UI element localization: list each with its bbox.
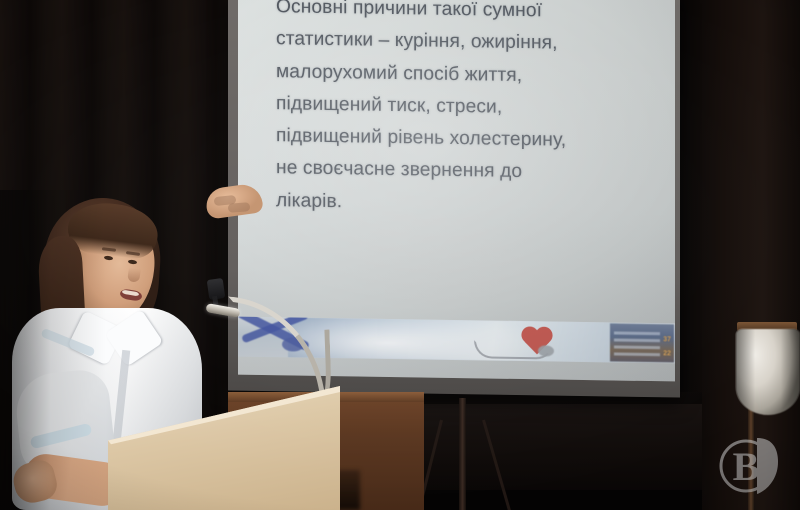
stethoscope-chestpiece-icon	[538, 345, 554, 356]
watermark-letter: B	[733, 444, 760, 489]
footer-gradient-wash	[288, 317, 618, 362]
tripod-post	[459, 398, 466, 510]
back-wall-panel	[402, 404, 702, 490]
presentation-photo: Основні причини такої сумної статистики …	[0, 0, 800, 510]
finger-2	[228, 202, 251, 213]
data-panel-number-1: 37	[663, 336, 671, 343]
slide-body-text: Основні причини такої сумної статистики …	[276, 0, 660, 223]
data-panel-graphic: 37 22	[610, 323, 674, 362]
data-panel-number-2: 22	[663, 350, 671, 357]
vase-shading	[736, 329, 800, 415]
watermark-logo: B	[716, 432, 786, 498]
projection-screen: Основні причини такої сумної статистики …	[238, 0, 675, 381]
